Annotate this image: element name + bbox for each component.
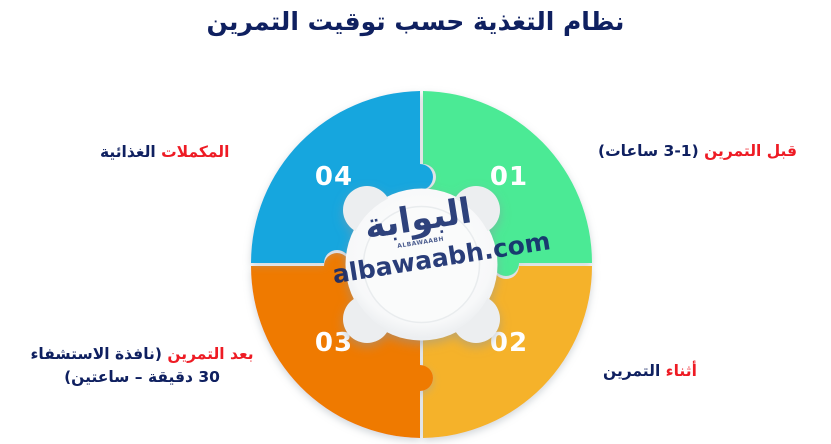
segment-03-label: بعد التمرين (نافذة الاستشفاء 30 دقيقة – … [8, 343, 276, 390]
segment-04-label-primary: المكملات [161, 143, 229, 161]
puzzle-wheel-chart: 01 02 03 04 [248, 78, 592, 444]
segment-01-label-primary: قبل التمرين [704, 142, 797, 160]
segment-01-number: 01 [490, 162, 528, 192]
segment-03-label-secondary-1: (نافذة الاستشفاء [30, 345, 161, 363]
segment-03-label-secondary-2: 30 دقيقة – ساعتين) [64, 368, 220, 386]
segment-02-label-primary: أثناء [666, 362, 697, 380]
segment-02-label: أثناء التمرين [603, 360, 697, 383]
segment-01-label-secondary: (1-3 ساعات) [598, 142, 699, 160]
segment-02-label-secondary: التمرين [603, 362, 660, 380]
segment-03-label-primary: بعد التمرين [167, 345, 253, 363]
segment-01-label: قبل التمرين (1-3 ساعات) [598, 140, 797, 163]
puzzle-wheel-svg: 01 02 03 04 [248, 78, 592, 444]
segment-04-label-secondary: الغذائية [100, 143, 156, 161]
center-hub [343, 186, 500, 343]
segment-04-number: 04 [315, 162, 353, 192]
segment-03-label-line1: بعد التمرين (نافذة الاستشفاء [8, 343, 276, 366]
page-title: نظام التغذية حسب توقيت التمرين [0, 6, 831, 37]
segment-04-label: المكملات الغذائية [100, 141, 286, 164]
segment-03-label-line2: 30 دقيقة – ساعتين) [8, 366, 276, 389]
infographic-page: نظام التغذية حسب توقيت التمرين 01 [0, 0, 831, 444]
